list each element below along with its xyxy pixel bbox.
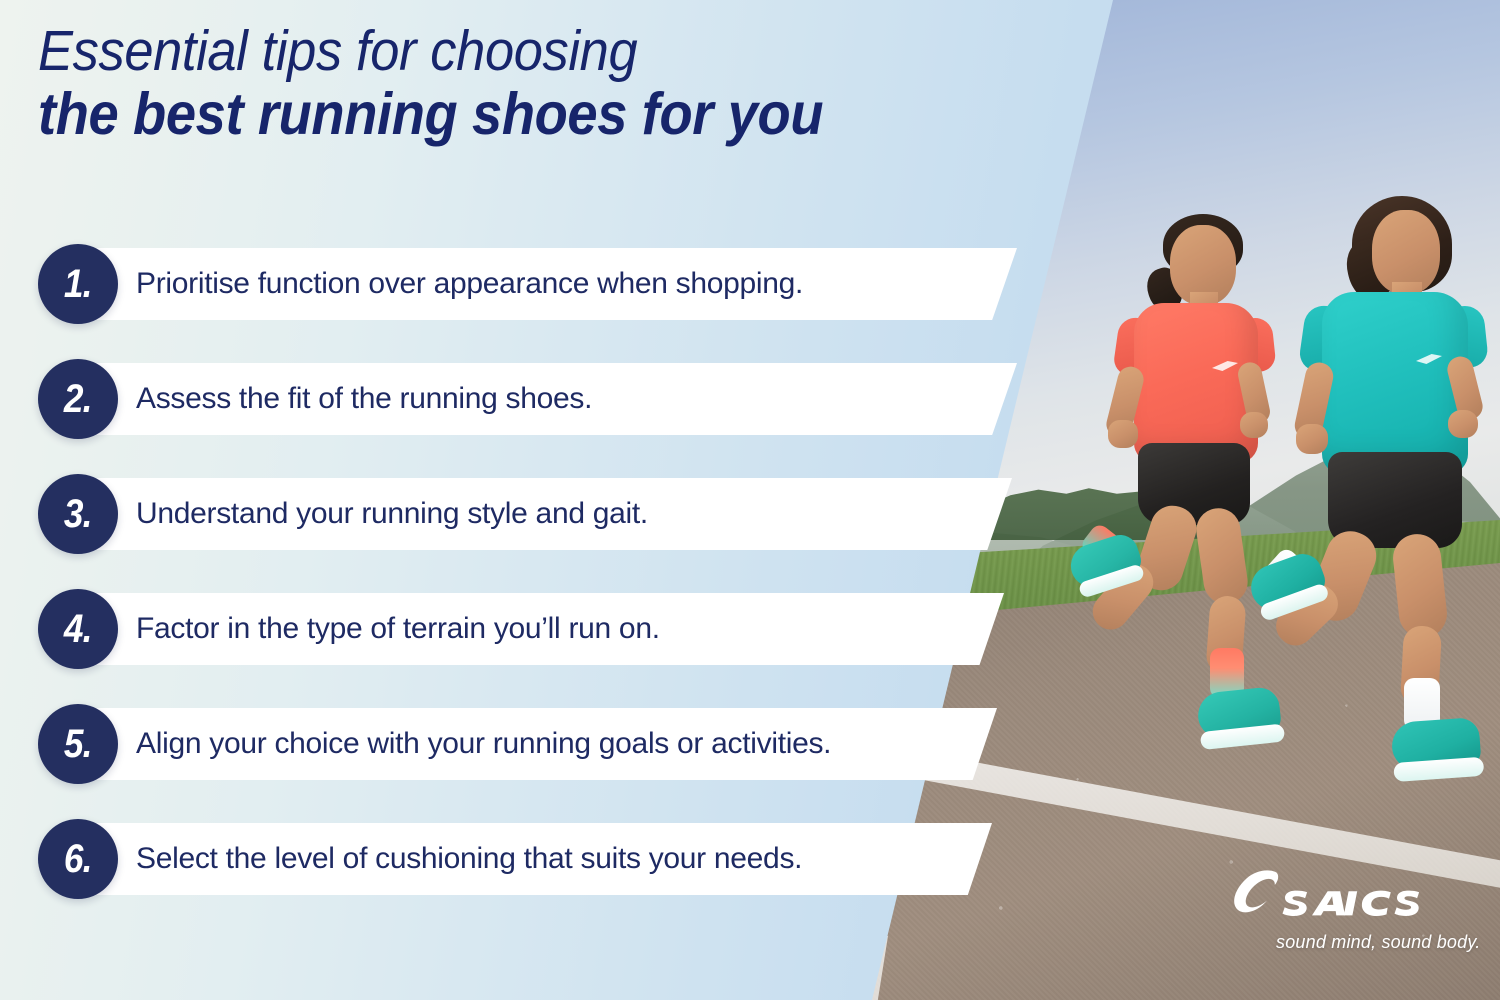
man-fist-left xyxy=(1296,424,1328,454)
tip-number: 4. xyxy=(64,609,92,649)
brand-tagline: sound mind, sound body. xyxy=(1276,932,1480,953)
tip-number: 5. xyxy=(64,724,92,764)
infographic-canvas: Essential tips for choosing the best run… xyxy=(0,0,1500,1000)
asics-logo: sound mind, sound body. xyxy=(1228,866,1478,966)
tip-number-badge: 2. xyxy=(38,359,118,439)
tip-number-badge: 1. xyxy=(38,244,118,324)
tips-list: 1. Prioritise function over appearance w… xyxy=(0,0,1150,1000)
tip-number-badge: 4. xyxy=(38,589,118,669)
woman-fist-right xyxy=(1240,412,1268,438)
asics-shirt-logo-icon xyxy=(1416,354,1442,364)
tip-number: 2. xyxy=(64,379,92,419)
tip-text: Understand your running style and gait. xyxy=(136,478,648,550)
tip-text: Align your choice with your running goal… xyxy=(136,708,831,780)
asics-shirt-logo-icon xyxy=(1212,361,1238,371)
tip-text: Prioritise function over appearance when… xyxy=(136,248,803,320)
tip-number: 3. xyxy=(64,494,92,534)
tip-number-badge: 5. xyxy=(38,704,118,784)
tip-text: Select the level of cushioning that suit… xyxy=(136,823,802,895)
tip-text: Assess the fit of the running shoes. xyxy=(136,363,592,435)
man-shoe-right xyxy=(1390,717,1481,771)
man-shirt xyxy=(1322,292,1468,474)
tip-number-badge: 6. xyxy=(38,819,118,899)
tip-number-badge: 3. xyxy=(38,474,118,554)
tip-text: Factor in the type of terrain you’ll run… xyxy=(136,593,660,665)
tip-number: 6. xyxy=(64,839,92,879)
tip-number: 1. xyxy=(64,264,92,304)
asics-wordmark-icon xyxy=(1228,866,1468,938)
man-fist-right xyxy=(1448,410,1478,438)
